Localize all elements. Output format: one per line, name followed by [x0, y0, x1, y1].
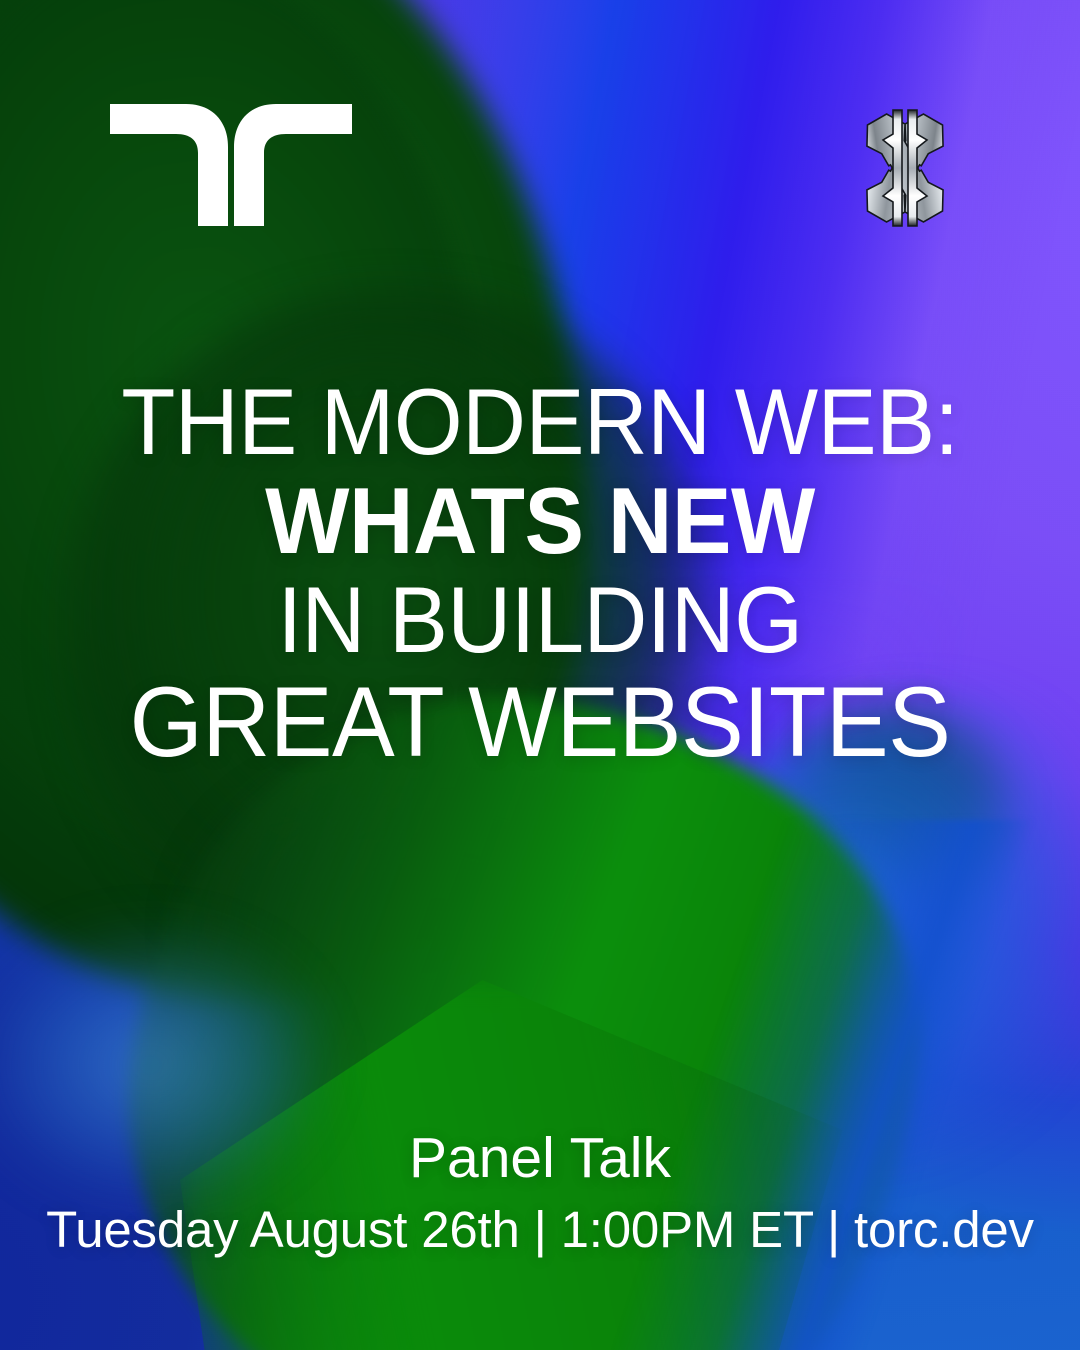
torc-wordmark-logo — [110, 104, 352, 226]
headline: THE MODERN WEB: WHATS NEW IN BUILDING GR… — [0, 376, 1080, 770]
headline-line-4: GREAT WEBSITES — [27, 674, 1053, 770]
headline-line-3: IN BUILDING — [32, 574, 1047, 665]
event-footer: Panel Talk Tuesday August 26th | 1:00PM … — [0, 1128, 1080, 1259]
promo-poster: THE MODERN WEB: WHATS NEW IN BUILDING GR… — [0, 0, 1080, 1350]
event-type-label: Panel Talk — [0, 1128, 1080, 1188]
poster-content: THE MODERN WEB: WHATS NEW IN BUILDING GR… — [0, 0, 1080, 1350]
event-details-label: Tuesday August 26th | 1:00PM ET | torc.d… — [0, 1202, 1080, 1258]
chrome-asterisk-icon — [843, 106, 967, 230]
headline-line-2: WHATS NEW — [27, 475, 1053, 566]
headline-line-1: THE MODERN WEB: — [32, 376, 1047, 467]
